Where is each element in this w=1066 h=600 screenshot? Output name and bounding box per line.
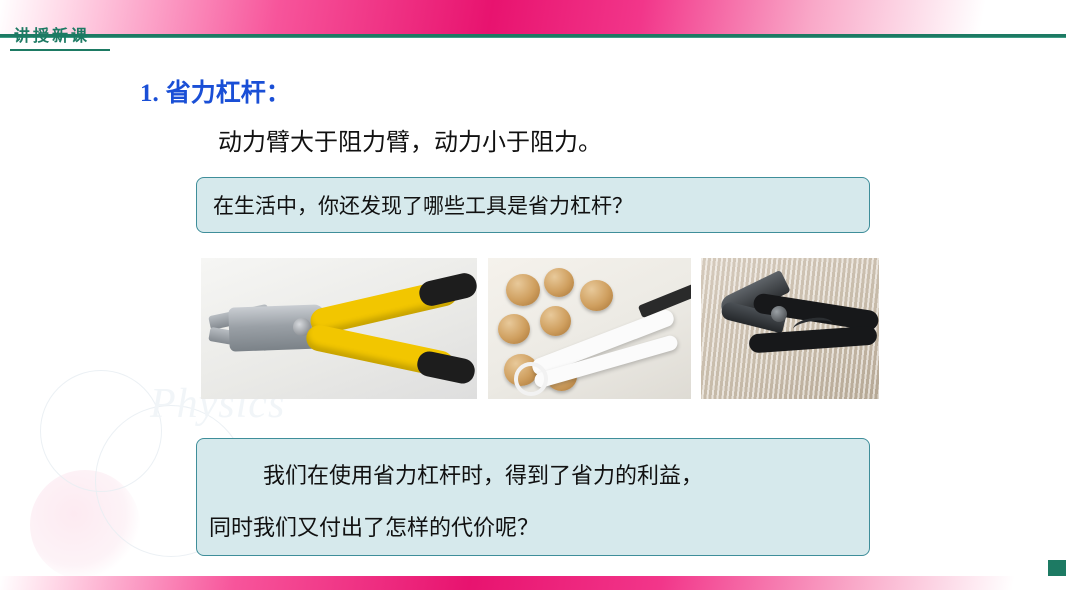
page-title: 1. 省力杠杆：	[140, 73, 291, 109]
heading-label: 省力杠杆：	[166, 79, 291, 107]
photo-strip	[201, 258, 879, 399]
definition-text: 动力臂大于阻力臂，动力小于阻力。	[218, 122, 602, 157]
bottom-decorative-bar	[0, 576, 1066, 590]
pliers-photo	[201, 258, 477, 399]
question-box-top: 在生活中，你还发现了哪些工具是省力杠杆？	[196, 177, 870, 233]
footer-green-block	[1048, 560, 1066, 576]
question-box-bottom: 我们在使用省力杠杆时，得到了省力的利益， 同时我们又付出了怎样的代价呢？	[196, 438, 870, 556]
top-decorative-bar	[0, 0, 1066, 34]
walnut	[544, 268, 574, 297]
walnut	[506, 274, 540, 306]
nutcracker-photo	[488, 258, 691, 399]
section-label-underline	[10, 49, 110, 51]
bottom-white-strip	[0, 590, 1066, 600]
top-green-rule-thin	[0, 37, 1066, 38]
walnut	[540, 306, 571, 336]
walnut	[580, 280, 613, 311]
pruning-shears-photo	[701, 258, 879, 399]
slide: 讲授新课 Physics 1. 省力杠杆： 动力臂大于阻力臂，动力小于阻力。 在…	[0, 0, 1066, 600]
shears-pivot	[771, 306, 787, 322]
question-box-bottom-line1: 我们在使用省力杠杆时，得到了省力的利益，	[263, 458, 703, 490]
question-box-bottom-line2: 同时我们又付出了怎样的代价呢？	[209, 510, 539, 542]
walnut	[498, 314, 530, 344]
heading-number: 1.	[140, 80, 159, 107]
section-label: 讲授新课	[14, 27, 90, 47]
question-box-top-text: 在生活中，你还发现了哪些工具是省力杠杆？	[213, 190, 633, 220]
nutcracker-ring	[514, 362, 548, 396]
